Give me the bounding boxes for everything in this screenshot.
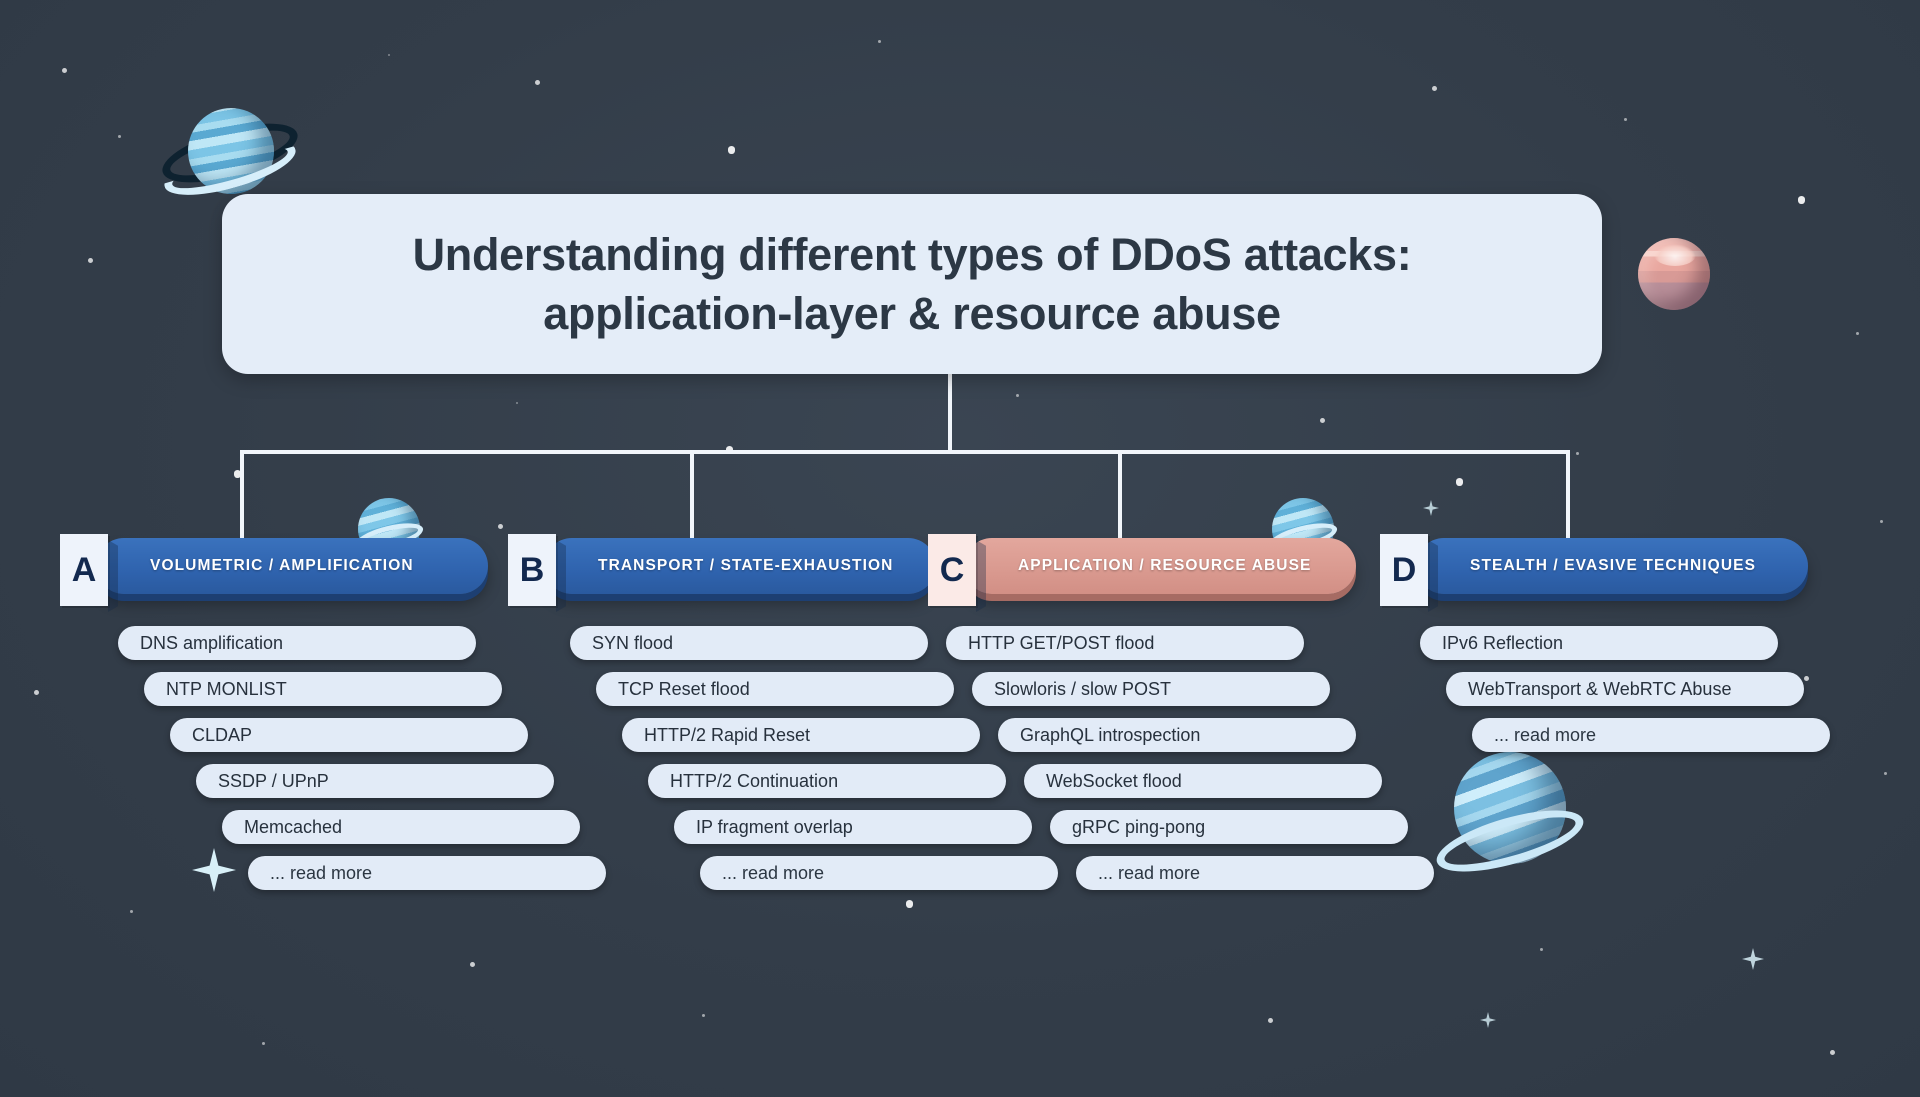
category-column-a: A VOLUMETRIC / AMPLIFICATION DNS amplifi… — [60, 534, 520, 902]
star — [1320, 418, 1325, 423]
category-letter: D — [1392, 551, 1417, 590]
badge-fold — [556, 540, 566, 612]
category-label: APPLICATION / RESOURCE ABUSE — [1018, 557, 1311, 575]
category-label: STEALTH / EVASIVE TECHNIQUES — [1470, 557, 1756, 575]
star — [1016, 394, 1019, 397]
title-line-2: application-layer & resource abuse — [543, 288, 1281, 339]
category-letter-badge-c: C — [928, 534, 976, 606]
category-pill-d[interactable]: STEALTH / EVASIVE TECHNIQUES — [1416, 538, 1808, 594]
badge-fold — [1428, 540, 1438, 612]
category-pill-b[interactable]: TRANSPORT / STATE-EXHAUSTION — [544, 538, 936, 594]
category-label: TRANSPORT / STATE-EXHAUSTION — [598, 557, 893, 575]
category-items-c: HTTP GET/POST flood Slowloris / slow POS… — [946, 626, 1388, 890]
star — [516, 402, 518, 404]
star — [1856, 332, 1859, 335]
saturn-ringed-planet-icon — [160, 108, 300, 198]
list-item[interactable]: SSDP / UPnP — [196, 764, 554, 798]
connector-drop-c — [1118, 450, 1122, 540]
title-card: Understanding different types of DDoS at… — [222, 194, 1602, 374]
star — [878, 40, 881, 43]
star — [262, 1042, 265, 1045]
read-more-link[interactable]: ... read more — [1472, 718, 1830, 752]
category-items-d: IPv6 Reflection WebTransport & WebRTC Ab… — [1420, 626, 1840, 752]
star — [1830, 1050, 1835, 1055]
category-letter-badge-a: A — [60, 534, 108, 606]
category-letter-badge-d: D — [1380, 534, 1428, 606]
category-header-b[interactable]: B TRANSPORT / STATE-EXHAUSTION — [508, 534, 968, 606]
star — [470, 962, 475, 967]
list-item[interactable]: IPv6 Reflection — [1420, 626, 1778, 660]
category-items-a: DNS amplification NTP MONLIST CLDAP SSDP… — [118, 626, 520, 890]
connector-trunk — [948, 374, 952, 452]
list-item[interactable]: Slowloris / slow POST — [972, 672, 1330, 706]
category-items-b: SYN flood TCP Reset flood HTTP/2 Rapid R… — [570, 626, 968, 890]
category-column-b: B TRANSPORT / STATE-EXHAUSTION SYN flood… — [508, 534, 968, 902]
list-item[interactable]: WebTransport & WebRTC Abuse — [1446, 672, 1804, 706]
category-columns: A VOLUMETRIC / AMPLIFICATION DNS amplifi… — [0, 534, 1920, 954]
category-pill-c[interactable]: APPLICATION / RESOURCE ABUSE — [964, 538, 1356, 594]
star — [728, 146, 735, 154]
list-item[interactable]: GraphQL introspection — [998, 718, 1356, 752]
star — [1268, 1018, 1273, 1023]
star — [388, 54, 390, 56]
connector-drop-b — [690, 450, 694, 540]
star — [1798, 196, 1805, 204]
connector-bus — [240, 450, 1570, 454]
connector-drop-d — [1566, 450, 1570, 540]
category-letter: A — [72, 551, 97, 590]
star — [1576, 452, 1579, 455]
badge-fold — [108, 540, 118, 612]
list-item[interactable]: SYN flood — [570, 626, 928, 660]
star — [498, 524, 503, 529]
star — [88, 258, 93, 263]
list-item[interactable]: WebSocket flood — [1024, 764, 1382, 798]
category-letter: C — [940, 551, 965, 590]
star — [1432, 86, 1437, 91]
star — [1880, 520, 1883, 523]
read-more-link[interactable]: ... read more — [1076, 856, 1434, 890]
category-letter: B — [520, 551, 545, 590]
category-header-d[interactable]: D STEALTH / EVASIVE TECHNIQUES — [1380, 534, 1840, 606]
badge-fold — [976, 540, 986, 612]
title-line-1: Understanding different types of DDoS at… — [413, 229, 1412, 280]
star — [535, 80, 540, 85]
star — [1456, 478, 1463, 486]
list-item[interactable]: HTTP/2 Rapid Reset — [622, 718, 980, 752]
category-label: VOLUMETRIC / AMPLIFICATION — [150, 557, 414, 575]
category-column-c: C APPLICATION / RESOURCE ABUSE HTTP GET/… — [928, 534, 1388, 902]
star — [1624, 118, 1627, 121]
page-title: Understanding different types of DDoS at… — [413, 225, 1412, 344]
category-header-a[interactable]: A VOLUMETRIC / AMPLIFICATION — [60, 534, 520, 606]
star — [702, 1014, 705, 1017]
infographic-canvas: Understanding different types of DDoS at… — [0, 0, 1920, 1097]
category-letter-badge-b: B — [508, 534, 556, 606]
sparkle-icon — [1480, 1012, 1496, 1028]
list-item[interactable]: HTTP GET/POST flood — [946, 626, 1304, 660]
sparkle-icon — [1423, 500, 1439, 516]
list-item[interactable]: NTP MONLIST — [144, 672, 502, 706]
category-header-c[interactable]: C APPLICATION / RESOURCE ABUSE — [928, 534, 1388, 606]
category-column-d: D STEALTH / EVASIVE TECHNIQUES IPv6 Refl… — [1380, 534, 1840, 764]
planet-highlight — [1654, 244, 1696, 266]
list-item[interactable]: TCP Reset flood — [596, 672, 954, 706]
star — [118, 135, 121, 138]
star — [62, 68, 67, 73]
list-item[interactable]: gRPC ping-pong — [1050, 810, 1408, 844]
connector-drop-a — [240, 450, 244, 540]
category-pill-a[interactable]: VOLUMETRIC / AMPLIFICATION — [96, 538, 488, 594]
list-item[interactable]: DNS amplification — [118, 626, 476, 660]
pink-banded-planet-icon — [1638, 238, 1710, 310]
list-item[interactable]: CLDAP — [170, 718, 528, 752]
